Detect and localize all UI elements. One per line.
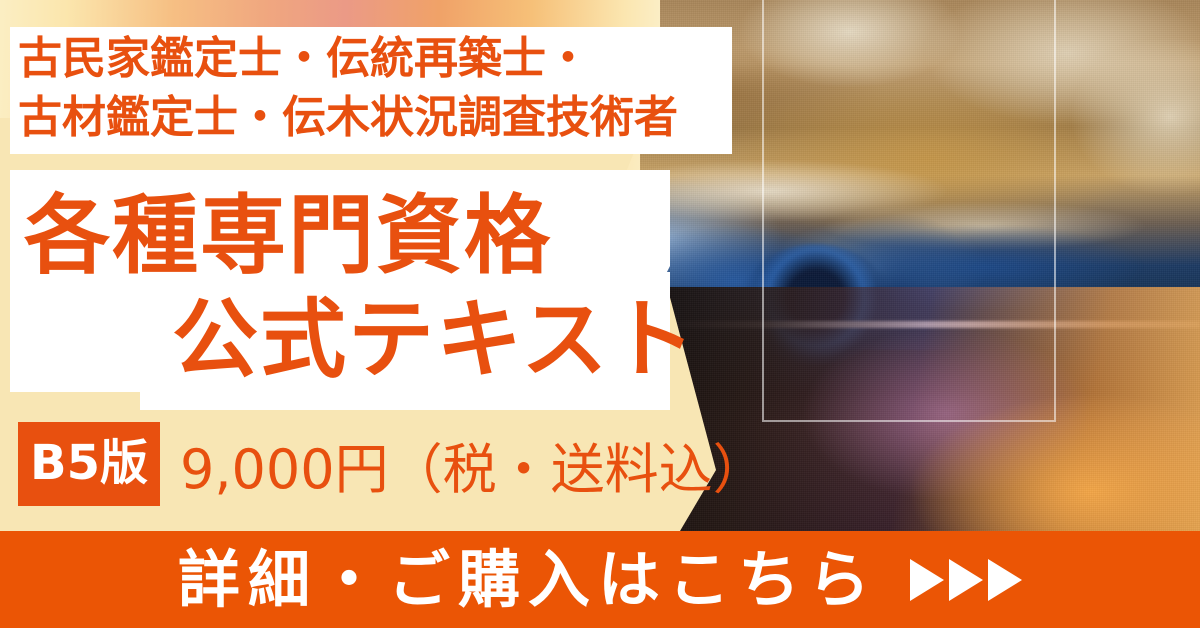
cta-label: 詳細・ご購入はこちら	[178, 549, 878, 611]
cta-arrows	[910, 559, 1022, 601]
price-row: B5版 9,000円（税・送料込）	[18, 421, 767, 507]
cta-bar[interactable]: 詳細・ご購入はこちら	[0, 531, 1200, 628]
qualification-heading: 古民家鑑定士・伝統再築士・ 古材鑑定士・伝木状況調査技術者	[18, 30, 718, 147]
chevron-right-icon	[910, 559, 944, 601]
main-title-line1: 各種専門資格	[24, 193, 552, 279]
main-title-line2: 公式テキスト	[172, 297, 697, 383]
promo-banner: 伝統構法、 古民家活用のための調査と再生の 古民家 古民家鑑定士・伝統再築士・ …	[0, 0, 1200, 628]
qualification-heading-line2: 古材鑑定士・伝木状況調査技術者	[18, 89, 718, 148]
qualification-heading-line1: 古民家鑑定士・伝統再築士・	[18, 30, 718, 89]
chevron-right-icon	[949, 559, 983, 601]
chevron-right-icon	[988, 559, 1022, 601]
cover-frame-line	[762, 0, 1056, 422]
price-amount: 9,000円（税・送料込）	[180, 425, 767, 504]
format-badge: B5版	[18, 422, 160, 506]
